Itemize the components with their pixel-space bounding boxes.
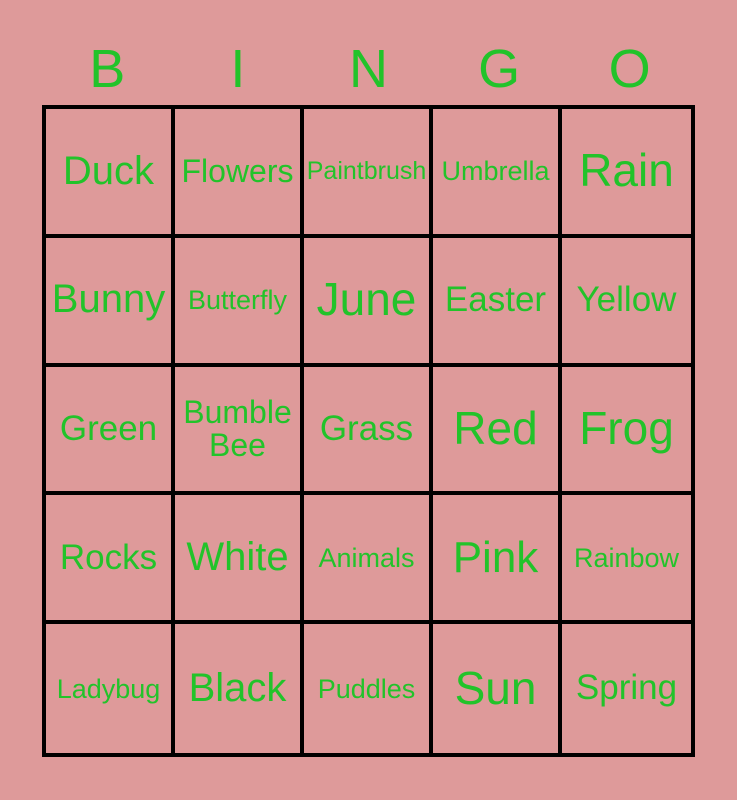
bingo-cell[interactable]: Bumble Bee — [175, 367, 304, 496]
bingo-cell-label: Animals — [318, 544, 414, 572]
bingo-cell[interactable]: Sun — [433, 624, 562, 753]
bingo-cell[interactable]: Rain — [562, 109, 691, 238]
bingo-cell[interactable]: Frog — [562, 367, 691, 496]
bingo-cell[interactable]: White — [175, 495, 304, 624]
bingo-cell[interactable]: Puddles — [304, 624, 433, 753]
bingo-cell-label: Rocks — [60, 540, 157, 576]
bingo-cell-label: Umbrella — [441, 157, 549, 185]
bingo-cell-label: Rain — [579, 147, 674, 195]
bingo-cell[interactable]: Yellow — [562, 238, 691, 367]
bingo-cell[interactable]: Umbrella — [433, 109, 562, 238]
bingo-cell[interactable]: Pink — [433, 495, 562, 624]
bingo-cell[interactable]: Paintbrush — [304, 109, 433, 238]
bingo-cell-label: Grass — [320, 411, 413, 447]
bingo-cell-label: June — [317, 276, 417, 324]
bingo-header-letter-b: B — [42, 36, 173, 102]
bingo-cell[interactable]: Flowers — [175, 109, 304, 238]
bingo-cell-label: Pink — [453, 535, 539, 581]
bingo-header-letter-o: O — [564, 36, 695, 102]
bingo-cell-label: Butterfly — [188, 286, 287, 314]
bingo-cell-label: Black — [189, 668, 287, 710]
bingo-cell-label: Spring — [576, 670, 677, 706]
bingo-cell-label: Sun — [455, 665, 537, 713]
bingo-cell-label: Paintbrush — [307, 158, 427, 184]
bingo-cell-label: Flowers — [181, 155, 293, 188]
bingo-cell[interactable]: Bunny — [46, 238, 175, 367]
bingo-header-letter-i: I — [173, 36, 304, 102]
bingo-cell[interactable]: June — [304, 238, 433, 367]
bingo-cell[interactable]: Red — [433, 367, 562, 496]
bingo-cell-label: Red — [453, 405, 537, 453]
bingo-cell[interactable]: Easter — [433, 238, 562, 367]
bingo-grid: Duck Flowers Paintbrush Umbrella Rain Bu… — [42, 105, 695, 757]
bingo-cell[interactable]: Ladybug — [46, 624, 175, 753]
bingo-header-letter-g: G — [434, 36, 565, 102]
bingo-cell-label: Rainbow — [574, 544, 679, 572]
bingo-cell-label: Yellow — [577, 282, 677, 318]
bingo-cell-label: Bumble Bee — [179, 396, 296, 463]
bingo-cell-label: Frog — [579, 405, 674, 453]
bingo-cell[interactable]: Black — [175, 624, 304, 753]
bingo-cell-label: Ladybug — [57, 675, 161, 703]
bingo-cell[interactable]: Duck — [46, 109, 175, 238]
bingo-cell-label: Duck — [63, 151, 154, 193]
bingo-cell[interactable]: Green — [46, 367, 175, 496]
bingo-card: B I N G O Duck Flowers Paintbrush Umbrel… — [0, 0, 737, 800]
bingo-cell[interactable]: Spring — [562, 624, 691, 753]
bingo-cell-label: Green — [60, 411, 157, 447]
bingo-cell-label: Puddles — [318, 675, 416, 703]
bingo-cell[interactable]: Animals — [304, 495, 433, 624]
bingo-cell[interactable]: Butterfly — [175, 238, 304, 367]
bingo-header-letter-n: N — [303, 36, 434, 102]
bingo-cell-label: White — [186, 537, 288, 579]
bingo-cell[interactable]: Rocks — [46, 495, 175, 624]
bingo-cell-label: Easter — [445, 282, 546, 318]
bingo-header: B I N G O — [42, 36, 695, 102]
bingo-cell[interactable]: Grass — [304, 367, 433, 496]
bingo-cell[interactable]: Rainbow — [562, 495, 691, 624]
bingo-cell-label: Bunny — [52, 279, 165, 321]
